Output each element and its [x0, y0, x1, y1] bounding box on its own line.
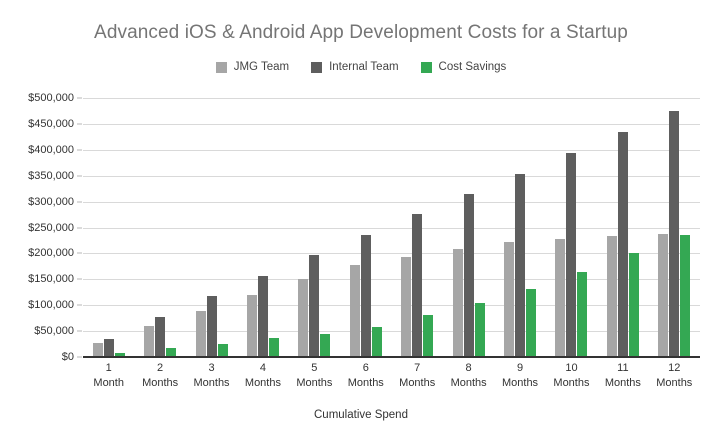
y-axis-tick-label: $150,000 — [28, 273, 74, 285]
bar-cost-savings[interactable] — [269, 338, 279, 357]
x-axis-tick-label: 7Months — [392, 361, 443, 391]
bar-jmg-team[interactable] — [658, 234, 668, 357]
bar-internal-team[interactable] — [361, 235, 371, 357]
bar-group — [494, 98, 545, 357]
x-axis-tick-line: 5 — [289, 361, 340, 376]
bar-jmg-team[interactable] — [350, 265, 360, 357]
bar-chart: Advanced iOS & Android App Development C… — [0, 0, 722, 446]
legend-swatch-icon — [311, 62, 322, 73]
x-axis-tick-line: 11 — [597, 361, 648, 376]
legend-label: Internal Team — [329, 61, 398, 73]
bar-cost-savings[interactable] — [680, 235, 690, 357]
bar-jmg-team[interactable] — [196, 311, 206, 357]
bar-internal-team[interactable] — [155, 317, 165, 357]
bar-jmg-team[interactable] — [607, 236, 617, 357]
bar-group — [649, 98, 700, 357]
y-axis-tick-label: $50,000 — [34, 325, 74, 337]
x-axis-tick-line: 10 — [546, 361, 597, 376]
legend-swatch-icon — [216, 62, 227, 73]
y-axis-tick-label: $450,000 — [28, 118, 74, 130]
bar-internal-team[interactable] — [669, 111, 679, 357]
bar-cost-savings[interactable] — [475, 303, 485, 357]
x-axis-tick-line: 7 — [392, 361, 443, 376]
bar-cost-savings[interactable] — [526, 289, 536, 357]
y-axis-tickmark — [77, 305, 82, 306]
plot-area — [83, 98, 700, 357]
x-axis-baseline — [83, 356, 700, 358]
legend-entry-cost-savings[interactable]: Cost Savings — [421, 61, 507, 73]
y-axis-tickmark — [77, 331, 82, 332]
y-axis-tick-label: $500,000 — [28, 92, 74, 104]
x-axis-tick-line: Months — [289, 376, 340, 391]
bar-internal-team[interactable] — [566, 153, 576, 357]
x-axis-tick-line: 3 — [186, 361, 237, 376]
x-axis-tick-line: Months — [340, 376, 391, 391]
bar-group — [597, 98, 648, 357]
bar-group — [340, 98, 391, 357]
x-axis-tick-label: 1Month — [83, 361, 134, 391]
x-axis-tick-line: Months — [546, 376, 597, 391]
x-axis-tick-line: 6 — [340, 361, 391, 376]
x-axis-tick-line: Months — [134, 376, 185, 391]
bar-group — [289, 98, 340, 357]
x-axis-tick-line: Months — [494, 376, 545, 391]
chart-title: Advanced iOS & Android App Development C… — [0, 22, 722, 44]
x-axis-tick-line: 8 — [443, 361, 494, 376]
bar-jmg-team[interactable] — [144, 326, 154, 357]
legend-entry-internal-team[interactable]: Internal Team — [311, 61, 398, 73]
x-axis-tick-line: Months — [443, 376, 494, 391]
bar-internal-team[interactable] — [309, 255, 319, 357]
x-axis-tick-label: 2Months — [134, 361, 185, 391]
y-axis-tickmark — [77, 253, 82, 254]
bar-cost-savings[interactable] — [423, 315, 433, 357]
bar-jmg-team[interactable] — [93, 343, 103, 358]
x-axis-tick-line: Months — [597, 376, 648, 391]
y-axis-tickmark — [77, 149, 82, 150]
legend-swatch-icon — [421, 62, 432, 73]
bar-group — [443, 98, 494, 357]
bar-cost-savings[interactable] — [218, 344, 228, 357]
bar-jmg-team[interactable] — [247, 295, 257, 357]
bar-internal-team[interactable] — [207, 296, 217, 357]
bar-internal-team[interactable] — [515, 174, 525, 357]
bar-group — [237, 98, 288, 357]
bar-internal-team[interactable] — [618, 132, 628, 357]
y-axis-tick-label: $0 — [62, 351, 74, 363]
legend-label: Cost Savings — [439, 61, 507, 73]
bar-cost-savings[interactable] — [577, 272, 587, 357]
bar-group — [134, 98, 185, 357]
y-axis-tickmark — [77, 175, 82, 176]
bar-internal-team[interactable] — [258, 276, 268, 357]
bar-group — [186, 98, 237, 357]
legend-entry-jmg-team[interactable]: JMG Team — [216, 61, 289, 73]
y-axis-tickmark — [77, 357, 82, 358]
bar-cost-savings[interactable] — [629, 253, 639, 357]
y-axis-tick-label: $350,000 — [28, 170, 74, 182]
x-axis-tick-line: 12 — [649, 361, 700, 376]
bar-cost-savings[interactable] — [372, 327, 382, 357]
x-axis-tick-line: Months — [392, 376, 443, 391]
bar-internal-team[interactable] — [412, 214, 422, 357]
x-axis: 1Month2Months3Months4Months5Months6Month… — [83, 361, 700, 403]
x-axis-tick-line: 4 — [237, 361, 288, 376]
bar-group — [392, 98, 443, 357]
y-axis-tick-label: $100,000 — [28, 299, 74, 311]
y-axis-tickmark — [77, 227, 82, 228]
bar-internal-team[interactable] — [464, 194, 474, 357]
y-axis: $500,000$450,000$400,000$350,000$300,000… — [0, 98, 74, 357]
x-axis-tick-line: Months — [186, 376, 237, 391]
x-axis-tick-label: 12Months — [649, 361, 700, 391]
x-axis-tick-line: Months — [237, 376, 288, 391]
x-axis-tick-label: 6Months — [340, 361, 391, 391]
bar-jmg-team[interactable] — [453, 249, 463, 357]
y-axis-tick-label: $400,000 — [28, 144, 74, 156]
x-axis-tick-line: Month — [83, 376, 134, 391]
x-axis-tick-label: 5Months — [289, 361, 340, 391]
y-axis-tickmark — [77, 98, 82, 99]
y-axis-tickmark — [77, 279, 82, 280]
y-axis-tickmark — [77, 123, 82, 124]
x-axis-title: Cumulative Spend — [0, 409, 722, 421]
x-axis-tick-line: 2 — [134, 361, 185, 376]
bar-group — [83, 98, 134, 357]
legend-label: JMG Team — [234, 61, 289, 73]
bar-internal-team[interactable] — [104, 339, 114, 357]
x-axis-tick-label: 9Months — [494, 361, 545, 391]
x-axis-tick-label: 4Months — [237, 361, 288, 391]
y-axis-tick-label: $250,000 — [28, 222, 74, 234]
y-axis-tickmark — [77, 201, 82, 202]
y-axis-tick-label: $300,000 — [28, 196, 74, 208]
y-axis-tick-label: $200,000 — [28, 247, 74, 259]
x-axis-tick-label: 11Months — [597, 361, 648, 391]
bar-cost-savings[interactable] — [320, 334, 330, 357]
bar-jmg-team[interactable] — [298, 279, 308, 357]
x-axis-tick-line: 1 — [83, 361, 134, 376]
bar-jmg-team[interactable] — [555, 239, 565, 357]
x-axis-tick-line: 9 — [494, 361, 545, 376]
bar-group — [546, 98, 597, 357]
bar-jmg-team[interactable] — [504, 242, 514, 357]
x-axis-tick-label: 8Months — [443, 361, 494, 391]
bar-jmg-team[interactable] — [401, 257, 411, 357]
chart-legend: JMG TeamInternal TeamCost Savings — [0, 61, 722, 73]
x-axis-tick-line: Months — [649, 376, 700, 391]
x-axis-tick-label: 3Months — [186, 361, 237, 391]
x-axis-tick-label: 10Months — [546, 361, 597, 391]
